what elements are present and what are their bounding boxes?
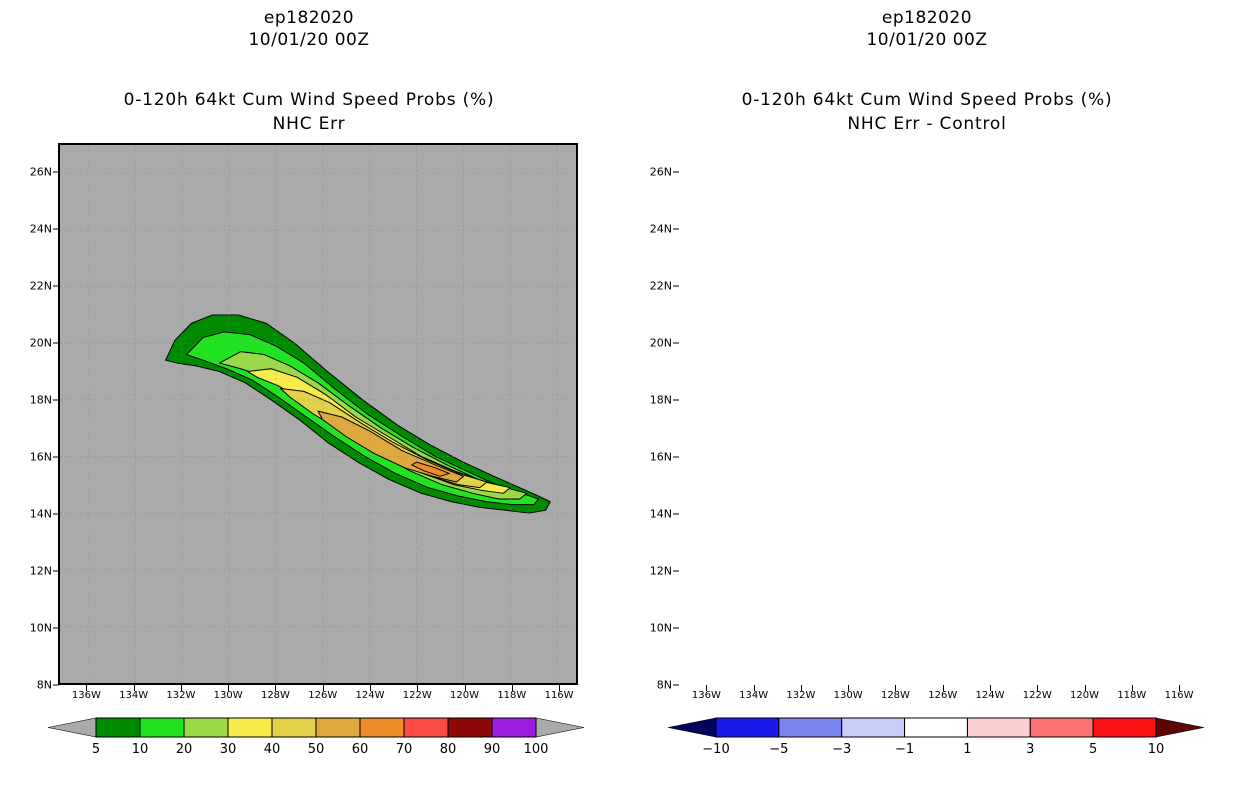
y-tick-label: 22N [16,279,52,292]
panel-title-right: 0-120h 64kt Cum Wind Speed Probs (%) [618,90,1236,110]
colorbar-swatch [228,718,272,737]
plot-area-nhc-err[interactable] [58,143,578,685]
y-tick-label: 10N [636,621,672,634]
colorbar-tick-label: 5 [92,742,100,757]
y-tick-mark [673,285,679,286]
x-tick-label: 116W [1165,690,1194,701]
y-tick-label: 12N [636,564,672,577]
colorbar-tick-label: −3 [832,742,851,757]
x-tick-mark [465,685,466,691]
x-tick-label: 116W [545,690,574,701]
x-tick-label: 124W [356,690,385,701]
x-tick-label: 136W [72,690,101,701]
panel-subtitle-right: NHC Err - Control [618,114,1236,134]
x-tick-label: 132W [166,690,195,701]
y-tick-mark [673,399,679,400]
panel-title-left: 0-120h 64kt Cum Wind Speed Probs (%) [0,90,618,110]
y-tick-label: 8N [636,679,672,692]
y-tick-label: 14N [16,507,52,520]
x-tick-mark [1037,685,1038,691]
y-tick-label: 16N [636,450,672,463]
x-tick-label: 124W [976,690,1005,701]
x-tick-mark [990,685,991,691]
storm-date-left: 10/01/20 00Z [0,30,618,50]
y-tick-label: 14N [636,507,672,520]
colorbar-under-arrow [48,718,96,737]
colorbar-tick-label: 5 [1089,742,1097,757]
colorbar-swatch [905,718,968,737]
x-tick-mark [275,685,276,691]
colorbar-swatches-difference [618,716,1236,740]
colorbar-swatch [492,718,536,737]
x-tick-mark [134,685,135,691]
panel-subtitle-left: NHC Err [0,114,618,134]
y-tick-mark [673,513,679,514]
y-tick-label: 20N [636,336,672,349]
x-tick-mark [943,685,944,691]
y-tick-mark [673,342,679,343]
x-tick-mark [1132,685,1133,691]
y-tick-label: 12N [16,564,52,577]
y-tick-label: 16N [16,450,52,463]
colorbar-swatch [1030,718,1093,737]
x-tick-mark [417,685,418,691]
y-tick-mark [673,171,679,172]
y-tick-label: 18N [636,393,672,406]
colorbar-over-arrow [1156,718,1204,737]
colorbar-swatch [96,718,140,737]
y-tick-mark [673,570,679,571]
y-tick-label: 26N [636,165,672,178]
colorbar-swatch [404,718,448,737]
colorbar-over-arrow [536,718,584,737]
x-tick-label: 122W [1023,690,1052,701]
colorbar-tick-label: 90 [484,742,501,757]
y-tick-label: 18N [16,393,52,406]
x-tick-label: 126W [928,690,957,701]
storm-id-left: ep182020 [0,8,618,28]
colorbar-tick-label: 40 [264,742,281,757]
colorbar-tick-label: 60 [352,742,369,757]
colorbar-tick-label: −10 [702,742,729,757]
colorbar-swatch [716,718,779,737]
colorbar-swatch [779,718,842,737]
x-tick-mark [754,685,755,691]
x-tick-label: 134W [739,690,768,701]
colorbar-tick-label: 30 [220,742,237,757]
colorbar-swatch [448,718,492,737]
y-tick-mark [673,228,679,229]
y-tick-mark [673,627,679,628]
y-tick-label: 26N [16,165,52,178]
colorbar-tick-label: −1 [895,742,914,757]
x-tick-label: 130W [214,690,243,701]
panel-nhc-err-minus-control: ep182020 10/01/20 00Z 0-120h 64kt Cum Wi… [618,0,1236,800]
panel-nhc-err: ep182020 10/01/20 00Z 0-120h 64kt Cum Wi… [0,0,618,800]
x-tick-label: 120W [1070,690,1099,701]
x-tick-label: 132W [786,690,815,701]
colorbar-tick-label: 50 [308,742,325,757]
colorbar-swatch [272,718,316,737]
colorbar-swatch [140,718,184,737]
storm-id-right: ep182020 [618,8,1236,28]
colorbar-under-arrow [668,718,716,737]
y-tick-mark [673,685,679,686]
colorbar-swatch [316,718,360,737]
storm-date-right: 10/01/20 00Z [618,30,1236,50]
x-tick-mark [86,685,87,691]
x-tick-mark [323,685,324,691]
x-tick-mark [706,685,707,691]
colorbar-swatch [184,718,228,737]
colorbar-swatch [360,718,404,737]
x-tick-mark [181,685,182,691]
contour-fills [166,315,551,513]
x-tick-mark [512,685,513,691]
x-tick-label: 128W [881,690,910,701]
y-tick-label: 22N [636,279,672,292]
colorbar-tick-label: 10 [132,742,149,757]
x-tick-label: 134W [119,690,148,701]
x-tick-label: 118W [1117,690,1146,701]
x-tick-mark [559,685,560,691]
y-tick-label: 20N [16,336,52,349]
y-tick-label: 24N [16,222,52,235]
colorbar-tick-label: 20 [176,742,193,757]
x-tick-label: 122W [403,690,432,701]
x-tick-label: 130W [834,690,863,701]
colorbar-probability[interactable]: 5102030405060708090100 [0,716,618,776]
x-tick-label: 126W [308,690,337,701]
x-tick-label: 118W [497,690,526,701]
x-tick-label: 136W [692,690,721,701]
x-tick-mark [848,685,849,691]
colorbar-tick-label: 70 [396,742,413,757]
x-tick-mark [1085,685,1086,691]
x-tick-label: 128W [261,690,290,701]
colorbar-swatch [967,718,1030,737]
colorbar-tick-label: 1 [963,742,971,757]
colorbar-swatches-probability [0,716,618,740]
colorbar-tick-label: 100 [524,742,549,757]
colorbar-tick-label: −5 [769,742,788,757]
colorbar-swatch [1093,718,1156,737]
y-tick-label: 8N [16,679,52,692]
x-tick-mark [801,685,802,691]
colorbar-swatch [842,718,905,737]
colorbar-tick-label: 3 [1026,742,1034,757]
y-tick-label: 24N [636,222,672,235]
y-tick-label: 10N [16,621,52,634]
colorbar-tick-label: 10 [1148,742,1165,757]
y-tick-mark [673,456,679,457]
x-tick-label: 120W [450,690,479,701]
x-tick-mark [228,685,229,691]
colorbar-tick-label: 80 [440,742,457,757]
x-tick-mark [1179,685,1180,691]
x-tick-mark [895,685,896,691]
x-tick-mark [370,685,371,691]
contour-plot-nhc-err [60,145,576,683]
colorbar-difference[interactable]: −10−5−3−113510 [618,716,1236,776]
